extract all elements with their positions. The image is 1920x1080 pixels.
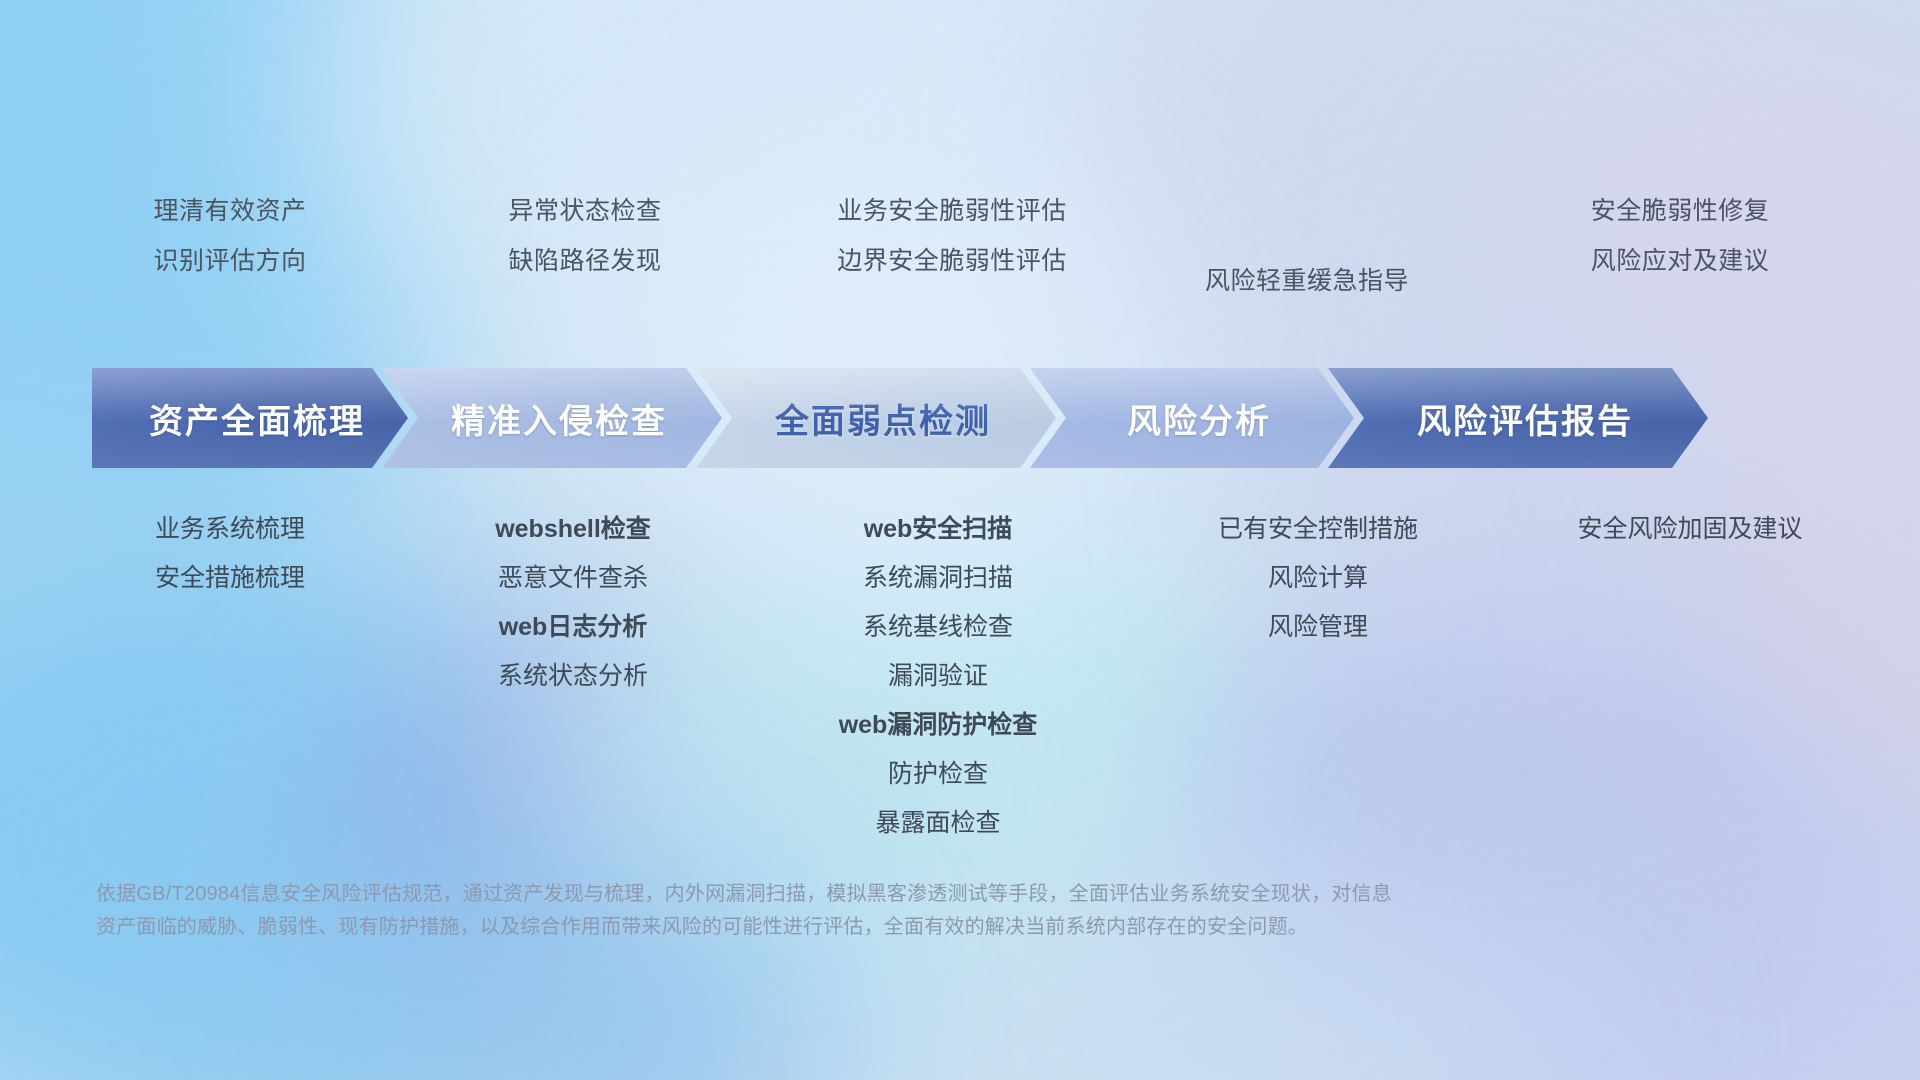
top-note: 安全脆弱性修复 <box>1591 186 1770 236</box>
list-item: 业务系统梳理 <box>155 505 305 554</box>
top-note: 缺陷路径发现 <box>508 236 661 286</box>
top-notes-risk-analysis: 风险轻重缓急指导 <box>1205 256 1409 306</box>
stage-title: 风险分析 <box>1113 394 1271 443</box>
footer-line-1: 依据GB/T20984信息安全风险评估规范，通过资产发现与梳理，内外网漏洞扫描，… <box>96 878 1616 911</box>
stage-arrow-risk-report[interactable]: 风险评估报告 <box>1328 368 1708 468</box>
list-item: web漏洞防护检查 <box>839 701 1038 750</box>
list-item: 安全措施梳理 <box>155 554 305 603</box>
list-item: 风险计算 <box>1218 554 1418 603</box>
list-item: 系统漏洞扫描 <box>839 554 1038 603</box>
stage-title: 资产全面梳理 <box>135 394 365 443</box>
detail-list-asset-inventory: 业务系统梳理 安全措施梳理 <box>155 505 305 603</box>
top-note: 识别评估方向 <box>153 236 306 286</box>
list-item: web安全扫描 <box>839 505 1038 554</box>
stage-arrow-risk-analysis[interactable]: 风险分析 <box>1030 368 1354 468</box>
stage-arrow-weakness-detection[interactable]: 全面弱点检测 <box>696 368 1056 468</box>
stage-title: 全面弱点检测 <box>761 394 991 443</box>
list-item: 漏洞验证 <box>839 652 1038 701</box>
list-item: 系统状态分析 <box>495 652 651 701</box>
top-note: 异常状态检查 <box>508 186 661 236</box>
top-notes-intrusion-check: 异常状态检查 缺陷路径发现 <box>508 186 661 286</box>
list-item: 防护检查 <box>839 750 1038 799</box>
detail-list-intrusion-check: webshell检查 恶意文件查杀 web日志分析 系统状态分析 <box>495 505 651 701</box>
top-notes-asset-inventory: 理清有效资产 识别评估方向 <box>153 186 306 286</box>
stage-title: 精准入侵检查 <box>437 394 667 443</box>
detail-list-weakness-detection: web安全扫描 系统漏洞扫描 系统基线检查 漏洞验证 web漏洞防护检查 防护检… <box>839 505 1038 848</box>
top-notes-row: 理清有效资产 识别评估方向 异常状态检查 缺陷路径发现 业务安全脆弱性评估 边界… <box>0 0 1920 300</box>
slide-canvas: 理清有效资产 识别评估方向 异常状态检查 缺陷路径发现 业务安全脆弱性评估 边界… <box>0 0 1920 1080</box>
process-arrow-band: 资产全面梳理 精准入侵检查 全面弱点检测 风险分析 风险评估报告 <box>92 368 1882 468</box>
list-item: 暴露面检查 <box>839 799 1038 848</box>
list-item: 系统基线检查 <box>839 603 1038 652</box>
top-note: 风险应对及建议 <box>1591 236 1770 286</box>
top-notes-weakness-detection: 业务安全脆弱性评估 边界安全脆弱性评估 <box>837 186 1067 286</box>
list-item: 已有安全控制措施 <box>1218 505 1418 554</box>
stage-details-row: 业务系统梳理 安全措施梳理 webshell检查 恶意文件查杀 web日志分析 … <box>0 505 1920 865</box>
footer-description: 依据GB/T20984信息安全风险评估规范，通过资产发现与梳理，内外网漏洞扫描，… <box>96 878 1616 944</box>
list-item: web日志分析 <box>495 603 651 652</box>
stage-title: 风险评估报告 <box>1403 394 1633 443</box>
list-item: 恶意文件查杀 <box>495 554 651 603</box>
top-notes-risk-report: 安全脆弱性修复 风险应对及建议 <box>1591 186 1770 286</box>
stage-arrow-intrusion-check[interactable]: 精准入侵检查 <box>382 368 722 468</box>
top-note: 业务安全脆弱性评估 <box>837 186 1067 236</box>
top-note: 风险轻重缓急指导 <box>1205 256 1409 306</box>
list-item: 安全风险加固及建议 <box>1577 505 1802 554</box>
footer-line-2: 资产面临的威胁、脆弱性、现有防护措施，以及综合作用而带来风险的可能性进行评估，全… <box>96 911 1616 944</box>
detail-list-risk-analysis: 已有安全控制措施 风险计算 风险管理 <box>1218 505 1418 652</box>
top-note: 边界安全脆弱性评估 <box>837 236 1067 286</box>
detail-list-risk-report: 安全风险加固及建议 <box>1577 505 1802 554</box>
list-item: 风险管理 <box>1218 603 1418 652</box>
stage-arrow-asset-inventory[interactable]: 资产全面梳理 <box>92 368 408 468</box>
top-note: 理清有效资产 <box>153 186 306 236</box>
list-item: webshell检查 <box>495 505 651 554</box>
